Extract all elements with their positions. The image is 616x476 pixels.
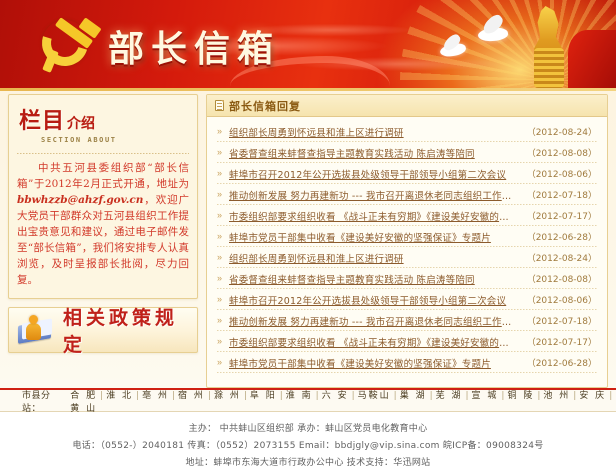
city-separator: |	[430, 391, 433, 401]
city-separator: |	[466, 391, 469, 401]
list-item[interactable]: »市委组织部要求组织收看 《战斗正未有穷期》《建设美好安徽的坚强保证》影片（20…	[217, 205, 597, 226]
city-separator: |	[573, 391, 576, 401]
hammer-and-sickle-icon	[38, 16, 108, 74]
contact-email-link[interactable]: bbwhzzb@ahzf.gov.cn	[17, 194, 143, 206]
list-item-date: （2012-06-28）	[527, 230, 597, 243]
list-item[interactable]: »蚌埠市党员干部集中收看《建设美好安徽的坚强保证》专题片（2012-06-28）	[217, 226, 597, 247]
site-banner: 部长信箱	[0, 0, 616, 88]
bullet-icon: »	[217, 148, 229, 157]
footer-organizer-line: 主办： 中共蚌山区组织部 承办：蚌山区党员电化教育中心	[189, 421, 428, 434]
minister-mailbox-reply-panel: 部长信箱回复 »组织部长周勇到怀远县和淮上区进行调研（2012-08-24）»省…	[206, 94, 608, 388]
city-link[interactable]: 铜 陵	[506, 391, 535, 401]
site-footer: 主办： 中共蚌山区组织部 承办：蚌山区党员电化教育中心 电话：（0552-）20…	[0, 412, 616, 476]
sidebar: 栏目介绍 SECTION ABOUT 中共五河县委组织部“部长信箱”于2012年…	[8, 94, 198, 388]
city-link[interactable]: 合 肥	[69, 391, 98, 401]
bullet-icon: »	[217, 253, 229, 262]
divider	[17, 153, 189, 154]
list-item-date: （2012-08-08）	[527, 146, 597, 159]
section-intro-heading-en: SECTION ABOUT	[41, 136, 189, 144]
list-item[interactable]: »市委组织部要求组织收看 《战斗正未有穷期》《建设美好安徽的坚强保证》影片（20…	[217, 331, 597, 352]
related-policy-title: 相关政策规定	[63, 303, 189, 357]
city-separator: |	[136, 391, 139, 401]
list-item-title[interactable]: 组织部长周勇到怀远县和淮上区进行调研	[229, 125, 517, 139]
city-separator: |	[537, 391, 540, 401]
list-item[interactable]: »蚌埠市召开2012年公开选拔县处级领导干部领导小组第二次会议（2012-08-…	[217, 289, 597, 310]
list-item-title[interactable]: 推动创新发展 努力再建新功 --- 我市召开离退休老同志组织工作情况通报会	[229, 188, 517, 202]
city-link[interactable]: 六 安	[321, 391, 350, 401]
torch-base-decoration	[534, 48, 564, 88]
city-link[interactable]: 宣 城	[471, 391, 500, 401]
list-item[interactable]: »组织部长周勇到怀远县和淮上区进行调研（2012-08-24）	[217, 121, 597, 142]
bullet-icon: »	[217, 295, 229, 304]
city-separator: |	[316, 391, 319, 401]
city-link[interactable]: 池 州	[542, 391, 571, 401]
bullet-icon: »	[217, 316, 229, 325]
bullet-icon: »	[217, 232, 229, 241]
section-intro-heading: 栏目介绍 SECTION ABOUT	[17, 101, 189, 148]
list-item-title[interactable]: 推动创新发展 努力再建新功 --- 我市召开离退休老同志组织工作情况通报会	[229, 314, 517, 328]
related-policy-panel[interactable]: 相关政策规定	[8, 307, 198, 353]
list-item[interactable]: »省委督查组来蚌督查指导主题教育实践活动 陈启涛等陪同（2012-08-08）	[217, 268, 597, 289]
footer-address-line: 地址：蚌埠市东海大道市行政办公中心 技术支持：华迅网站	[186, 455, 431, 468]
red-cloth-decoration	[568, 30, 616, 88]
list-item[interactable]: »省委督查组来蚌督查指导主题教育实践活动 陈启涛等陪同（2012-08-08）	[217, 142, 597, 163]
city-link[interactable]: 宿 州	[177, 391, 206, 401]
list-item-date: （2012-07-18）	[527, 188, 597, 201]
city-link[interactable]: 芜 湖	[435, 391, 464, 401]
city-link[interactable]: 巢 湖	[399, 391, 428, 401]
bullet-icon: »	[217, 211, 229, 220]
list-item[interactable]: »推动创新发展 努力再建新功 --- 我市召开离退休老同志组织工作情况通报会（2…	[217, 184, 597, 205]
list-item[interactable]: »组织部长周勇到怀远县和淮上区进行调研（2012-08-24）	[217, 247, 597, 268]
list-item-title[interactable]: 蚌埠市召开2012年公开选拔县处级领导干部领导小组第二次会议	[229, 167, 517, 181]
list-item-date: （2012-08-24）	[527, 251, 597, 264]
bullet-icon: »	[217, 274, 229, 283]
footer-contact-line: 电话：（0552-）2040181 传真：（0552）2073155 Email…	[72, 438, 543, 451]
intro-text-after-mail: ，欢迎广大党员干部群众对五河县组织工作提出宝贵意见和建议，通过电子邮件发至“部长…	[17, 194, 189, 286]
book-person-icon	[17, 315, 55, 345]
city-separator: |	[100, 391, 103, 401]
bullet-icon: »	[217, 337, 229, 346]
section-intro-panel: 栏目介绍 SECTION ABOUT 中共五河县委组织部“部长信箱”于2012年…	[8, 94, 198, 299]
panel-header-title: 部长信箱回复	[229, 98, 301, 114]
list-item-title[interactable]: 蚌埠市党员干部集中收看《建设美好安徽的坚强保证》专题片	[229, 356, 517, 370]
reply-list: »组织部长周勇到怀远县和淮上区进行调研（2012-08-24）»省委督查组来蚌督…	[207, 117, 607, 373]
list-item-date: （2012-07-18）	[527, 314, 597, 327]
list-item-date: （2012-07-17）	[527, 209, 597, 222]
city-link[interactable]: 滁 州	[213, 391, 242, 401]
list-item[interactable]: »推动创新发展 努力再建新功 --- 我市召开离退休老同志组织工作情况通报会（2…	[217, 310, 597, 331]
list-item-title[interactable]: 省委督查组来蚌督查指导主题教育实践活动 陈启涛等陪同	[229, 272, 517, 286]
section-intro-heading-sub: 介绍	[67, 116, 95, 132]
bullet-icon: »	[217, 190, 229, 199]
city-separator: |	[352, 391, 355, 401]
intro-text-before-mail: 中共五河县委组织部“部长信箱”于2012年2月正式开通，地址为	[17, 162, 189, 190]
city-substation-label: 市县分站：	[22, 388, 67, 414]
city-link[interactable]: 淮 北	[105, 391, 134, 401]
content-area: 栏目介绍 SECTION ABOUT 中共五河县委组织部“部长信箱”于2012年…	[0, 88, 616, 388]
city-link[interactable]: 黄 山	[69, 404, 98, 414]
list-item-date: （2012-08-24）	[527, 125, 597, 138]
city-link[interactable]: 亳 州	[141, 391, 170, 401]
city-separator: |	[501, 391, 504, 401]
list-item-date: （2012-08-08）	[527, 272, 597, 285]
city-link[interactable]: 淮 南	[285, 391, 314, 401]
list-item-title[interactable]: 蚌埠市召开2012年公开选拔县处级领导干部领导小组第二次会议	[229, 293, 517, 307]
city-separator: |	[172, 391, 175, 401]
document-icon	[215, 100, 224, 111]
panel-header: 部长信箱回复	[207, 95, 607, 117]
city-separator: |	[244, 391, 247, 401]
section-intro-heading-main: 栏目	[19, 108, 65, 134]
city-substation-bar: 市县分站： 合 肥|淮 北|亳 州|宿 州|滁 州|阜 阳|淮 南|六 安|马鞍…	[0, 388, 616, 412]
city-separator: |	[208, 391, 211, 401]
city-link[interactable]: 阜 阳	[249, 391, 278, 401]
list-item-title[interactable]: 组织部长周勇到怀远县和淮上区进行调研	[229, 251, 517, 265]
list-item-date: （2012-08-06）	[527, 293, 597, 306]
page-title: 部长信箱	[108, 20, 280, 72]
city-links-container: 合 肥|淮 北|亳 州|宿 州|滁 州|阜 阳|淮 南|六 安|马鞍山|巢 湖|…	[69, 388, 616, 414]
page-root: 部长信箱 栏目介绍 SECTION ABOUT 中共五河县委组织部“部长信箱”于…	[0, 0, 616, 476]
city-link[interactable]: 马鞍山	[357, 391, 392, 401]
city-separator: |	[394, 391, 397, 401]
bullet-icon: »	[217, 358, 229, 367]
city-link[interactable]: 安 庆	[578, 391, 607, 401]
list-item-date: （2012-07-17）	[527, 335, 597, 348]
list-item-title[interactable]: 省委督查组来蚌督查指导主题教育实践活动 陈启涛等陪同	[229, 146, 517, 160]
city-separator: |	[280, 391, 283, 401]
list-item-title[interactable]: 市委组织部要求组织收看 《战斗正未有穷期》《建设美好安徽的坚强保证》影片	[229, 209, 517, 223]
list-item-date: （2012-08-06）	[527, 167, 597, 180]
list-item-title[interactable]: 市委组织部要求组织收看 《战斗正未有穷期》《建设美好安徽的坚强保证》影片	[229, 335, 517, 349]
bullet-icon: »	[217, 127, 229, 136]
list-item-date: （2012-06-28）	[527, 356, 597, 369]
bullet-icon: »	[217, 169, 229, 178]
list-item-title[interactable]: 蚌埠市党员干部集中收看《建设美好安徽的坚强保证》专题片	[229, 230, 517, 244]
list-item[interactable]: »蚌埠市党员干部集中收看《建设美好安徽的坚强保证》专题片（2012-06-28）	[217, 352, 597, 373]
list-item[interactable]: »蚌埠市召开2012年公开选拔县处级领导干部领导小组第二次会议（2012-08-…	[217, 163, 597, 184]
city-separator: |	[609, 391, 612, 401]
section-intro-text: 中共五河县委组织部“部长信箱”于2012年2月正式开通，地址为bbwhzzb@a…	[17, 160, 189, 288]
